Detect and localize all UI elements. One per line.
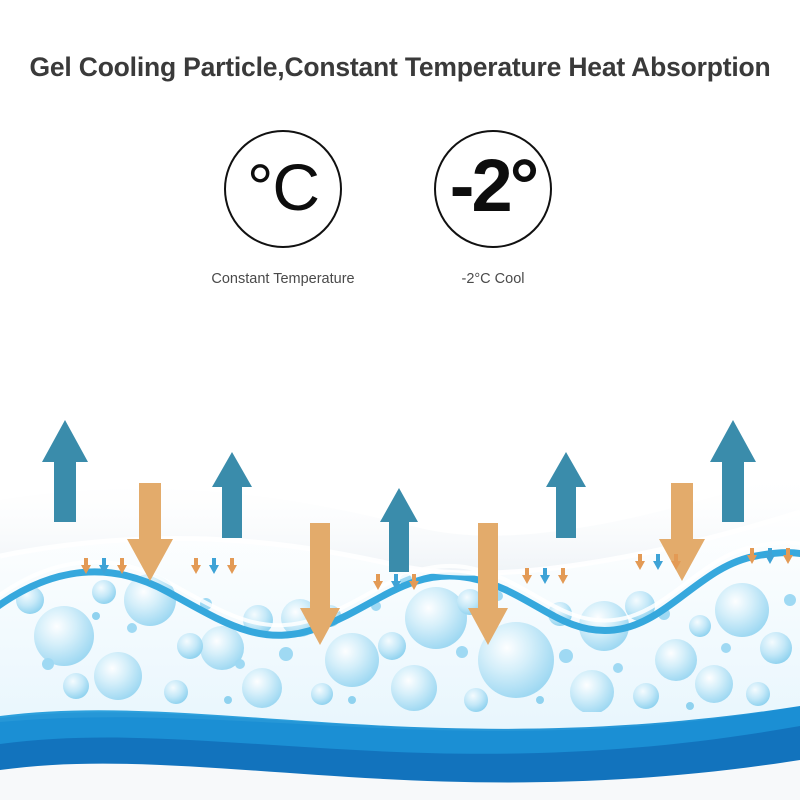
gel-cooling-illustration [0, 0, 800, 800]
minus-two-degree-icon: -2° [434, 130, 552, 248]
minus-two-glyph: -2° [450, 149, 536, 223]
constant-temperature-caption: Constant Temperature [183, 271, 383, 287]
celsius-degree-icon: °C [224, 130, 342, 248]
celsius-glyph: °C [247, 154, 319, 220]
minus-two-cool-caption: -2°C Cool [413, 271, 573, 287]
page-title: Gel Cooling Particle,Constant Temperatur… [0, 52, 800, 83]
infographic-page: Gel Cooling Particle,Constant Temperatur… [0, 0, 800, 800]
up-arrow [546, 452, 586, 538]
